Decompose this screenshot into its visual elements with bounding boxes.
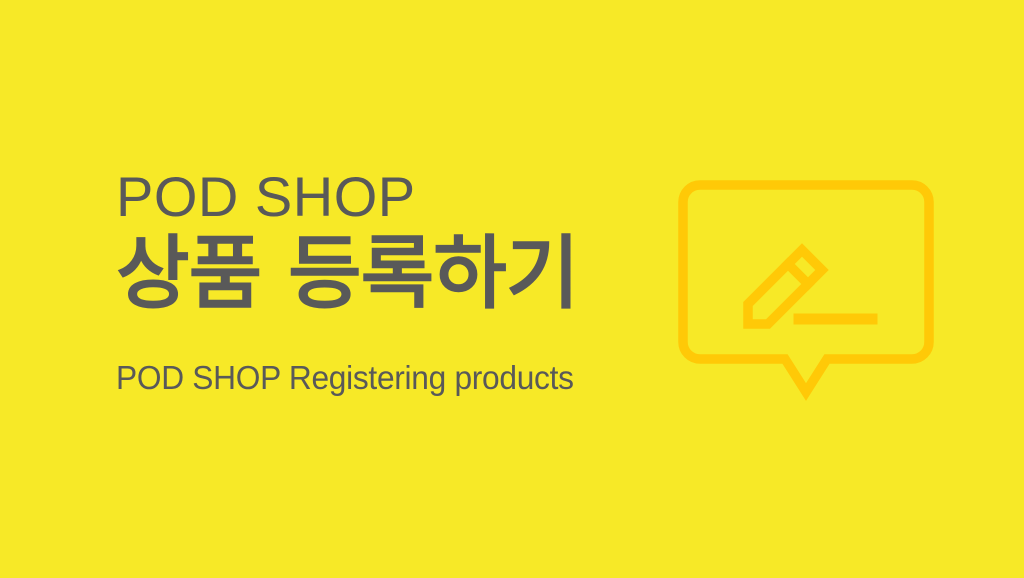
subtitle: POD SHOP Registering products (116, 360, 654, 396)
eyebrow-title: POD SHOP (116, 168, 676, 225)
speech-bubble-edit-icon (676, 178, 944, 410)
pencil-tip-line (788, 264, 808, 284)
page-title: 상품 등록하기 (116, 227, 676, 321)
title-text-block: POD SHOP 상품 등록하기 POD SHOP Registering pr… (116, 168, 676, 396)
slide-canvas: POD SHOP 상품 등록하기 POD SHOP Registering pr… (0, 0, 1024, 578)
